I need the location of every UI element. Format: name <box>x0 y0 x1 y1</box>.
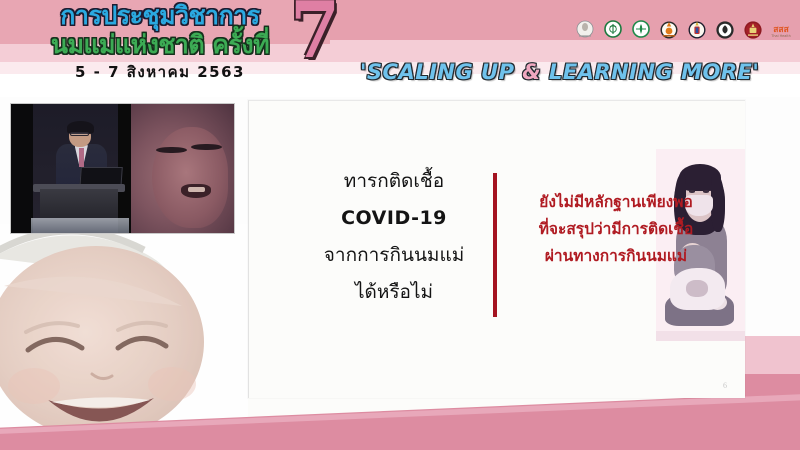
answer-line-3: ผ่านทางการกินนมแม่ <box>507 243 725 270</box>
event-tagline: 'SCALING UP & LEARNING MORE' <box>360 60 759 84</box>
event-title-line1: การประชุมวิชาการ <box>20 2 300 30</box>
slide-content-card: ทารกติดเชื้อ COVID-19 จากการกินนมแม่ ได้… <box>248 100 745 398</box>
question-line-2: COVID-19 <box>299 200 489 237</box>
nursing-council-logo <box>630 19 652 41</box>
answer-line-2: ที่จะสรุปว่ามีการติดเชื้อ <box>507 216 725 243</box>
tagline-part-2: LEARNING MORE' <box>541 60 759 84</box>
svg-text:Thai Health: Thai Health <box>770 34 790 38</box>
presentation-slide-view: การประชุมวิชาการ นมแม่แห่งชาติ ครั้งที่ … <box>0 0 800 450</box>
baby-watermark-photo <box>0 224 286 450</box>
event-banner: การประชุมวิชาการ นมแม่แห่งชาติ ครั้งที่ … <box>0 0 800 97</box>
slide-number: 6 <box>723 381 727 390</box>
tagline-part-1: 'SCALING UP <box>360 60 522 84</box>
baby-face <box>152 127 228 228</box>
national-institute-logo <box>742 19 764 41</box>
question-line-1: ทารกติดเชื้อ <box>299 163 489 200</box>
pediatric-society-logo <box>686 19 708 41</box>
answer-text: ยังไม่มีหลักฐานเพียงพอ ที่จะสรุปว่ามีการ… <box>507 189 725 270</box>
royal-college-logo <box>658 19 680 41</box>
event-date: 5 - 7 สิงหาคม 2563 <box>20 61 300 83</box>
sponsor-logo-row: สสส Thai Health <box>574 19 792 41</box>
baby-teeth <box>188 187 205 192</box>
question-line-3: จากการกินนมแม่ <box>299 237 489 274</box>
baby-photo-half <box>131 104 234 233</box>
mother-hand <box>686 280 707 297</box>
video-wall-panel <box>11 104 36 233</box>
tagline-ampersand: & <box>522 60 541 84</box>
answer-line-1: ยังไม่มีหลักฐานเพียงพอ <box>507 189 725 216</box>
university-seal-logo <box>714 19 736 41</box>
thai-health-sss-logo: สสส Thai Health <box>770 19 792 41</box>
illustration-floor <box>656 331 745 341</box>
ministry-emblem-logo <box>574 19 596 41</box>
question-text: ทารกติดเชื้อ COVID-19 จากการกินนมแม่ ได้… <box>299 163 489 311</box>
speaker-glasses <box>70 132 89 137</box>
event-title: การประชุมวิชาการ นมแม่แห่งชาติ ครั้งที่ … <box>20 2 300 83</box>
question-line-4: ได้หรือไม่ <box>299 274 489 311</box>
speaker-tie <box>79 148 84 167</box>
event-title-line2: นมแม่แห่งชาติ ครั้งที่ <box>20 30 300 59</box>
frame-right-light <box>744 336 800 374</box>
speaker-webcam-feed[interactable] <box>10 103 235 234</box>
medical-council-logo <box>602 19 624 41</box>
podium-glass-base <box>31 218 129 233</box>
baby-eye-left <box>156 147 187 153</box>
vertical-divider <box>493 173 497 317</box>
